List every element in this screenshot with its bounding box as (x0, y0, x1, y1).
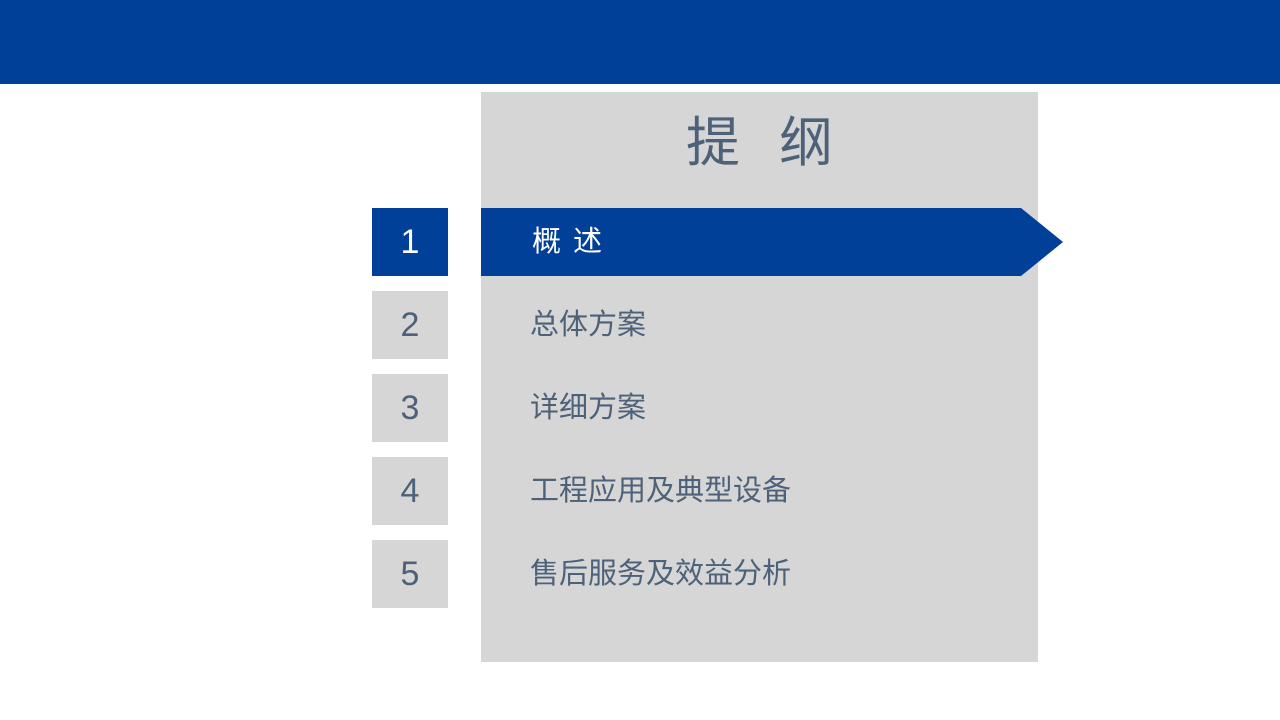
outline-item-number: 5 (372, 540, 448, 608)
outline-item-label: 概 述 (532, 208, 604, 276)
presentation-slide: 提 纲 1 概 述 2 总体方案 3 详细方案 4 工程应用及典型设备 5 售后… (0, 0, 1280, 720)
outline-item-number: 4 (372, 457, 448, 525)
outline-item-label: 总体方案 (530, 291, 646, 359)
outline-item-number: 2 (372, 291, 448, 359)
outline-item-label: 详细方案 (530, 374, 646, 442)
outline-item-label: 售后服务及效益分析 (530, 540, 791, 608)
outline-item-number: 1 (372, 208, 448, 276)
outline-item-label: 工程应用及典型设备 (530, 457, 791, 525)
outline-list: 1 概 述 2 总体方案 3 详细方案 4 工程应用及典型设备 5 售后服务及效… (0, 0, 1280, 720)
outline-item-number: 3 (372, 374, 448, 442)
